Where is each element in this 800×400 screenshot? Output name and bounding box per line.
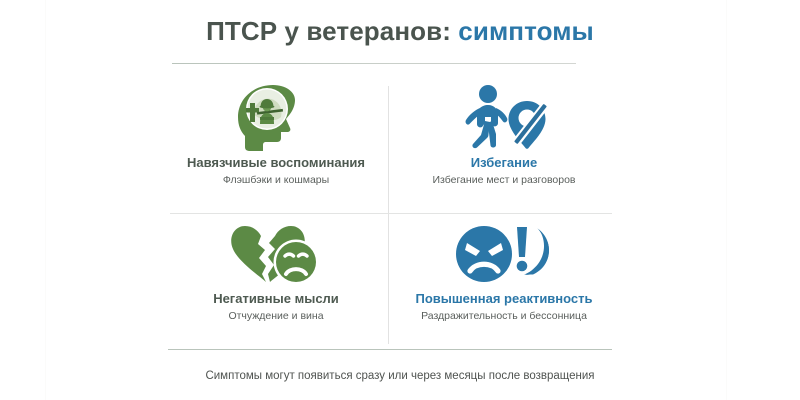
page-title-accent: симптомы [458, 16, 594, 46]
ptsd-symptoms-infographic: ПТСР у ветеранов: симптомы [0, 0, 800, 400]
title-underline-rule [172, 63, 576, 64]
grid-divider-horizontal [170, 213, 612, 214]
broken-heart-sad-face-icon [168, 216, 384, 292]
quadrant-label: Негативные мысли [168, 292, 384, 306]
page-edge-left [45, 0, 46, 400]
page-title-main: ПТСР у ветеранов: [206, 16, 451, 46]
quadrant-avoidance: Избегание Избегание мест и разговоров [396, 80, 612, 210]
symptom-quadrant-grid: Навязчивые воспоминания Флэшбэки и кошма… [168, 80, 612, 348]
walking-person-no-location-icon [396, 80, 612, 156]
footer-note: Симптомы могут появиться сразу или через… [0, 370, 800, 382]
page-edge-right [726, 0, 727, 400]
angry-face-exclamation-moon-icon [396, 216, 612, 292]
quadrant-label: Навязчивые воспоминания [168, 156, 384, 170]
quadrant-label: Повышенная реактивность [396, 292, 612, 306]
quadrant-sublabel: Избегание мест и разговоров [396, 175, 612, 187]
quadrant-intrusive-memories: Навязчивые воспоминания Флэшбэки и кошма… [168, 80, 384, 210]
footer-rule [168, 349, 612, 350]
quadrant-sublabel: Раздражительность и бессонница [396, 311, 612, 323]
grid-divider-vertical [388, 86, 389, 344]
quadrant-sublabel: Флэшбэки и кошмары [168, 175, 384, 187]
head-soldier-memory-icon [168, 80, 384, 156]
quadrant-label: Избегание [396, 156, 612, 170]
quadrant-hyperarousal: Повышенная реактивность Раздражительност… [396, 216, 612, 346]
quadrant-sublabel: Отчуждение и вина [168, 311, 384, 323]
quadrant-negative-thoughts: Негативные мысли Отчуждение и вина [168, 216, 384, 346]
page-title: ПТСР у ветеранов: симптомы [0, 16, 800, 47]
